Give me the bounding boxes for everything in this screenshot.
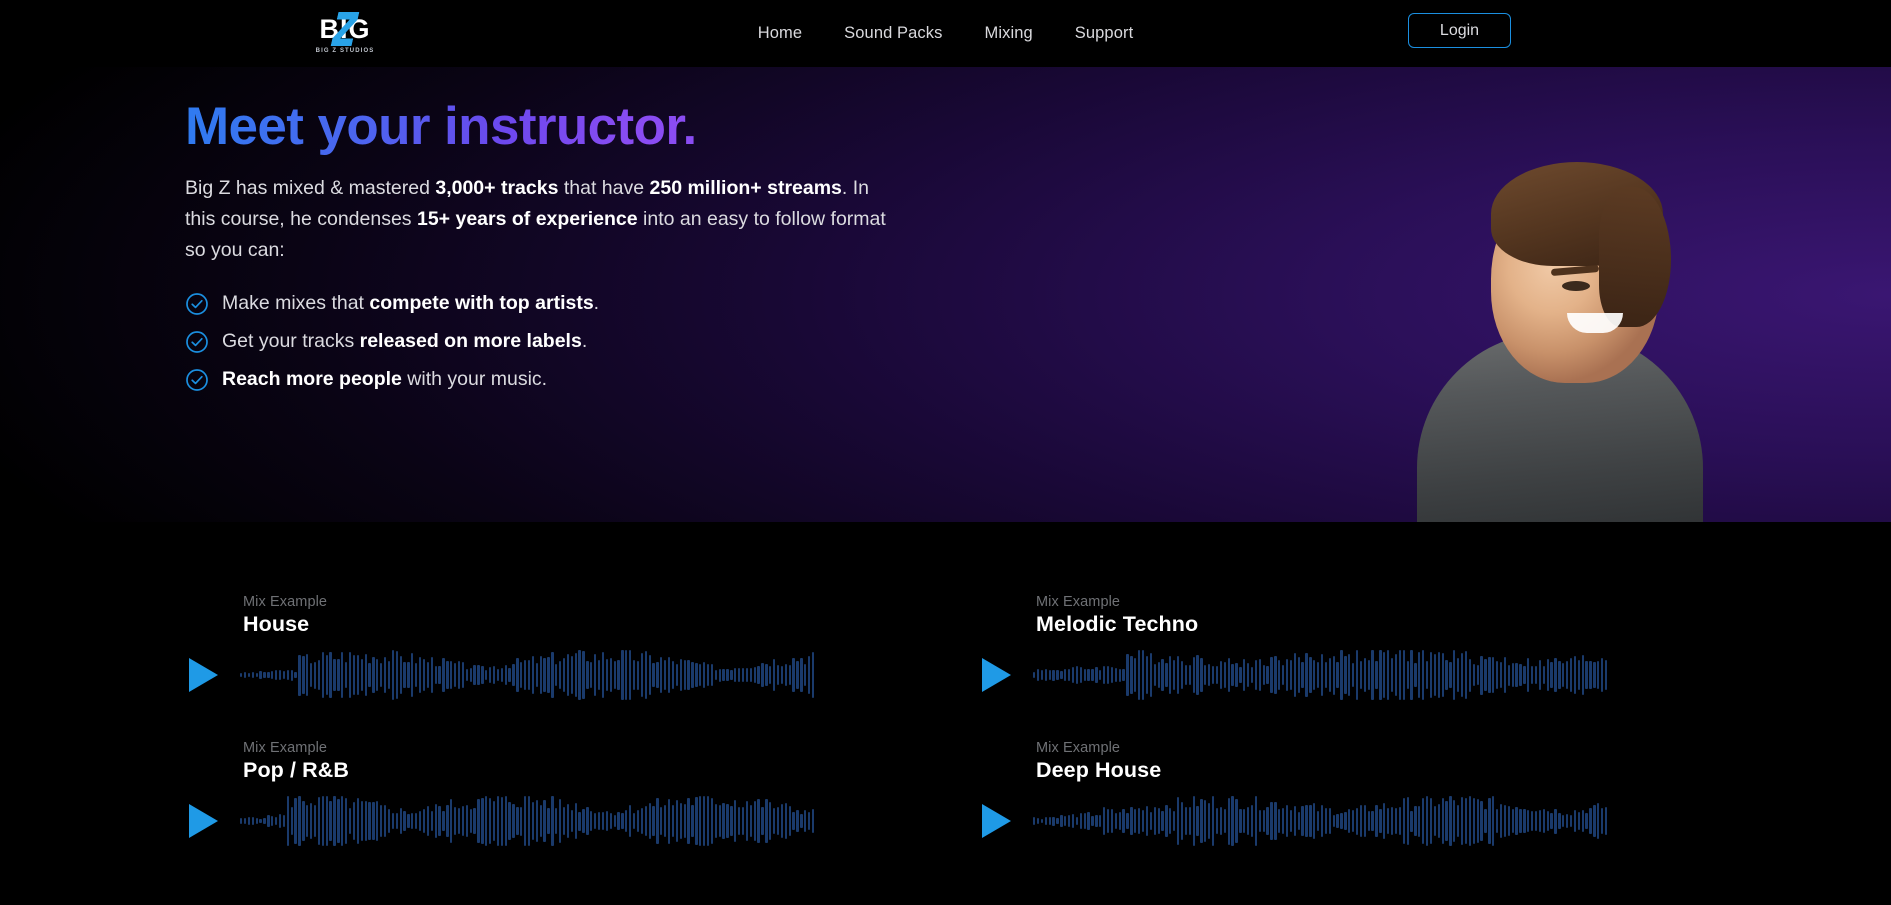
main-nav: Home Sound Packs Mixing Support bbox=[0, 0, 1891, 67]
checklist-plain-before: Make mixes that bbox=[222, 292, 369, 314]
checklist-item: Make mixes that compete with top artists… bbox=[185, 292, 1150, 316]
waveform[interactable] bbox=[1033, 649, 1771, 701]
player-controls bbox=[978, 649, 1771, 701]
checklist-item: Reach more people with your music. bbox=[185, 368, 1150, 392]
hero-content: Meet your instructor. Big Z has mixed & … bbox=[0, 67, 1150, 392]
player-title: Deep House bbox=[1036, 758, 1771, 783]
player-controls bbox=[185, 795, 978, 847]
checklist-plain-before: Get your tracks bbox=[222, 330, 360, 352]
hero-stat-tracks: 3,000+ tracks bbox=[435, 177, 558, 199]
play-icon[interactable] bbox=[189, 804, 218, 838]
instructor-portrait bbox=[1399, 117, 1719, 522]
hero-section: Meet your instructor. Big Z has mixed & … bbox=[0, 67, 1891, 522]
checklist-emphasis: Reach more people bbox=[222, 368, 402, 390]
portrait-eye bbox=[1562, 281, 1590, 291]
checklist-plain-after: . bbox=[582, 330, 587, 352]
hero-para-part-2: that have bbox=[558, 177, 649, 199]
checklist-item: Get your tracks released on more labels. bbox=[185, 330, 1150, 354]
checklist-text: Reach more people with your music. bbox=[222, 368, 547, 391]
player-label: Mix Example bbox=[243, 594, 978, 610]
hero-stat-experience: 15+ years of experience bbox=[417, 208, 638, 230]
checklist-emphasis: compete with top artists bbox=[369, 292, 593, 314]
audio-player: Mix Example Pop / R&B bbox=[185, 740, 978, 860]
checklist-plain-after: with your music. bbox=[402, 368, 547, 390]
mix-examples-grid: Mix Example House Mix Example Melodic Te… bbox=[0, 594, 1891, 860]
audio-player: Mix Example Deep House bbox=[978, 740, 1771, 860]
player-title: Melodic Techno bbox=[1036, 612, 1771, 637]
login-button[interactable]: Login bbox=[1408, 13, 1511, 48]
player-title: Pop / R&B bbox=[243, 758, 978, 783]
play-icon[interactable] bbox=[982, 804, 1011, 838]
portrait-hair-side bbox=[1599, 187, 1671, 327]
waveform[interactable] bbox=[240, 649, 978, 701]
site-header: BIG BIG Z STUDIOS Home Sound Packs Mixin… bbox=[0, 0, 1891, 67]
nav-item-home[interactable]: Home bbox=[758, 24, 802, 43]
hero-stat-streams: 250 million+ streams bbox=[650, 177, 842, 199]
nav-item-sound-packs[interactable]: Sound Packs bbox=[844, 24, 942, 43]
hero-para-part-1: Big Z has mixed & mastered bbox=[185, 177, 435, 199]
checklist-text: Make mixes that compete with top artists… bbox=[222, 292, 599, 315]
play-icon[interactable] bbox=[982, 658, 1011, 692]
waveform[interactable] bbox=[1033, 795, 1771, 847]
player-label: Mix Example bbox=[1036, 594, 1771, 610]
checklist-emphasis: released on more labels bbox=[360, 330, 582, 352]
play-icon[interactable] bbox=[189, 658, 218, 692]
mix-examples-section: Mix Example House Mix Example Melodic Te… bbox=[0, 522, 1891, 905]
nav-item-support[interactable]: Support bbox=[1075, 24, 1134, 43]
check-circle-icon bbox=[185, 330, 209, 354]
checklist-plain-after: . bbox=[594, 292, 599, 314]
checklist-text: Get your tracks released on more labels. bbox=[222, 330, 587, 353]
page-title: Meet your instructor. bbox=[185, 99, 697, 155]
player-label: Mix Example bbox=[1036, 740, 1771, 756]
audio-player: Mix Example Melodic Techno bbox=[978, 594, 1771, 714]
player-title: House bbox=[243, 612, 978, 637]
check-circle-icon bbox=[185, 368, 209, 392]
check-circle-icon bbox=[185, 292, 209, 316]
player-controls bbox=[185, 649, 978, 701]
audio-player: Mix Example House bbox=[185, 594, 978, 714]
player-controls bbox=[978, 795, 1771, 847]
nav-item-mixing[interactable]: Mixing bbox=[984, 24, 1032, 43]
player-label: Mix Example bbox=[243, 740, 978, 756]
waveform[interactable] bbox=[240, 795, 978, 847]
hero-checklist: Make mixes that compete with top artists… bbox=[185, 292, 1150, 392]
hero-paragraph: Big Z has mixed & mastered 3,000+ tracks… bbox=[185, 173, 895, 265]
